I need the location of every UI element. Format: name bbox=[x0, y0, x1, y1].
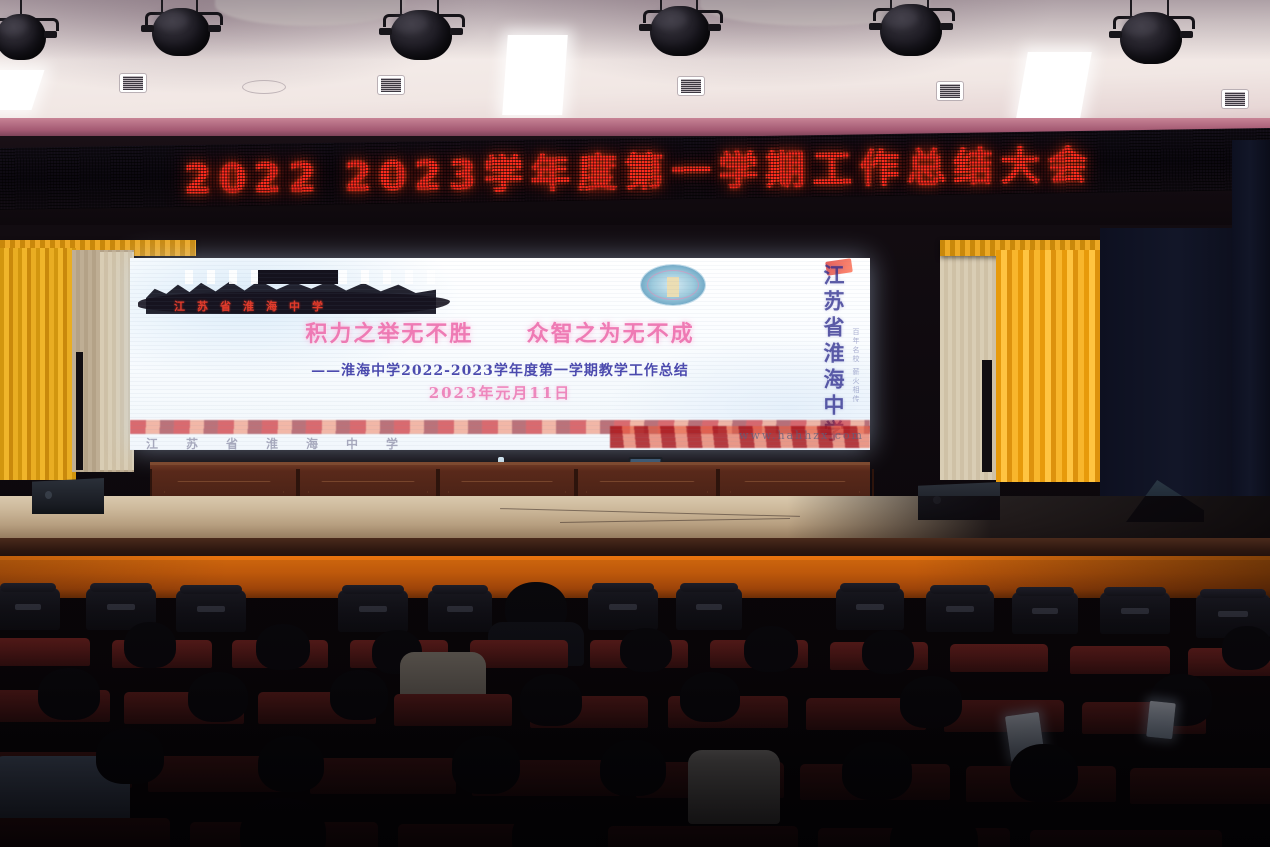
stage-floor-shadow bbox=[0, 496, 1270, 542]
audience-member-head bbox=[38, 668, 100, 720]
stage-spotlight bbox=[0, 14, 46, 60]
audience-member-head bbox=[188, 672, 248, 722]
audience-member-head bbox=[258, 736, 324, 792]
stage-curtain-left bbox=[0, 248, 76, 480]
stage-spotlight bbox=[1120, 12, 1182, 64]
audience-member-head bbox=[744, 626, 798, 672]
theatre-seat-red bbox=[608, 826, 798, 847]
stage-spotlight bbox=[390, 10, 452, 60]
stage-wall-panel-left-2 bbox=[100, 252, 134, 470]
theatre-seat-red bbox=[0, 638, 90, 666]
audience-member-head bbox=[256, 624, 310, 670]
theatre-seat bbox=[588, 588, 658, 630]
audience-member-coat-light bbox=[400, 652, 486, 698]
audience-member-coat-white bbox=[688, 750, 780, 824]
ceiling-speaker-grille-icon bbox=[678, 77, 704, 95]
audience-member-head bbox=[240, 798, 326, 847]
theatre-seat-red bbox=[1070, 646, 1170, 674]
led-banner-text: 2022 2023学年度第一学期工作总结大会 bbox=[177, 133, 1094, 205]
stage-spotlight bbox=[880, 4, 942, 56]
theatre-seat-red bbox=[394, 694, 512, 726]
audience-member-head bbox=[520, 674, 582, 726]
backstage-door-right bbox=[982, 360, 992, 472]
theatre-seat bbox=[676, 588, 742, 630]
theatre-seat bbox=[1012, 592, 1078, 634]
audience-member-head bbox=[96, 728, 164, 784]
theatre-seat-red bbox=[0, 818, 170, 847]
ceiling-vent-icon bbox=[242, 80, 286, 94]
ceiling-speaker-grille-icon bbox=[1222, 90, 1248, 108]
audience-member-head bbox=[862, 630, 914, 674]
audience-member-head bbox=[600, 740, 666, 796]
theatre-seat-red bbox=[944, 700, 1064, 732]
theatre-seat-red bbox=[310, 758, 456, 794]
audience-member-head bbox=[124, 622, 176, 668]
theatre-seat bbox=[836, 588, 904, 630]
stage-side-curtain-far bbox=[1232, 140, 1270, 530]
audience-member-head bbox=[1222, 626, 1270, 670]
audience-member-head bbox=[452, 736, 520, 794]
audience-member-head bbox=[512, 802, 596, 847]
audience-member-head bbox=[1010, 744, 1078, 802]
theatre-seat bbox=[0, 588, 60, 630]
ceiling-speaker-grille-icon bbox=[120, 74, 146, 92]
theatre-seat-red bbox=[1030, 830, 1222, 847]
ceiling-panel-light bbox=[1016, 52, 1092, 118]
theatre-seat bbox=[176, 590, 246, 632]
ceiling-speaker-grille-icon bbox=[937, 82, 963, 100]
audience-member-head bbox=[890, 806, 978, 847]
theatre-seat-red bbox=[950, 644, 1048, 672]
ceiling-speaker-grille-icon bbox=[378, 76, 404, 94]
ceiling-panel-light bbox=[502, 35, 568, 115]
theatre-seat bbox=[926, 590, 994, 632]
audience-area bbox=[0, 560, 1270, 847]
theatre-seat-red bbox=[1130, 768, 1270, 804]
theatre-seat bbox=[428, 590, 492, 632]
phone-screen-glow bbox=[1146, 701, 1176, 740]
stage-curtain-right bbox=[996, 250, 1104, 482]
stage-spotlight bbox=[152, 8, 210, 56]
audience-member-head bbox=[842, 742, 912, 800]
backstage-door-left bbox=[76, 352, 83, 470]
stage-spotlight bbox=[650, 6, 710, 56]
theatre-seat bbox=[338, 590, 408, 632]
audience-member-head bbox=[330, 670, 388, 720]
auditorium-scene: 2022 2023学年度第一学期工作总结大会 江苏省淮海中学 江苏省淮海中学 百… bbox=[0, 0, 1270, 847]
audience-member-head bbox=[680, 672, 740, 722]
theatre-seat bbox=[1100, 592, 1170, 634]
audience-member-head bbox=[620, 628, 672, 672]
audience-member-head bbox=[900, 676, 962, 728]
